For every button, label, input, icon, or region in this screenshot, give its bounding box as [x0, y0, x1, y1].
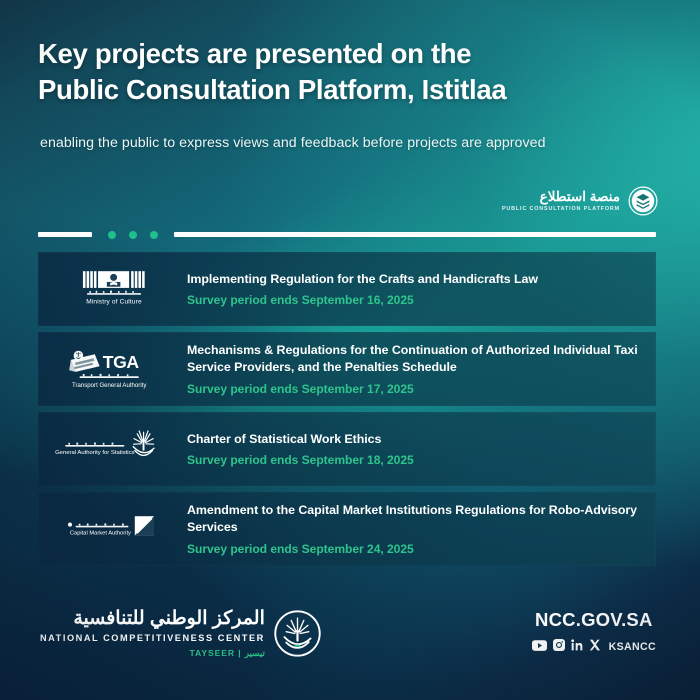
project-card[interactable]: Ministry of Culture Implementing Regulat…	[38, 252, 656, 326]
social-links: KSANCC	[532, 638, 656, 656]
divider-dot	[129, 231, 137, 239]
svg-text:Transport General Authority: Transport General Authority	[72, 382, 147, 389]
istitlaa-platform-logo: منصة استطلاع PUBLIC CONSULTATION PLATFOR…	[502, 186, 658, 216]
project-card[interactable]: Capital Market Authority Amendment to th…	[38, 492, 656, 566]
ncc-logo: المركز الوطني للتنافسية NATIONAL COMPETI…	[40, 609, 321, 658]
svg-text:Capital Market Authority: Capital Market Authority	[70, 531, 131, 537]
ncc-logo-text: المركز الوطني للتنافسية NATIONAL COMPETI…	[40, 609, 265, 658]
website-url[interactable]: NCC.GOV.SA	[532, 609, 656, 631]
divider-bar-left	[38, 232, 92, 237]
linkedin-icon[interactable]	[571, 638, 583, 656]
transport-general-authority-logo: TGA Transport General Authority	[44, 343, 184, 395]
project-details: Mechanisms & Regulations for the Continu…	[184, 342, 640, 395]
project-card[interactable]: TGA Transport General Authority Mec	[38, 332, 656, 406]
footer-links: NCC.GOV.SA	[532, 609, 656, 656]
project-survey-date: Survey period ends September 16, 2025	[187, 293, 640, 307]
divider-dot	[108, 231, 116, 239]
page-title: Key projects are presented on the Public…	[38, 36, 658, 109]
divider	[38, 231, 656, 238]
project-details: Amendment to the Capital Market Institut…	[184, 502, 640, 555]
ncc-name-arabic: المركز الوطني للتنافسية	[40, 609, 265, 628]
social-handle: KSANCC	[609, 641, 656, 653]
stacked-layers-circle-icon	[628, 186, 658, 216]
ncc-name-english: NATIONAL COMPETITIVENESS CENTER	[40, 634, 265, 643]
svg-text:TGA: TGA	[103, 351, 140, 371]
project-survey-date: Survey period ends September 24, 2025	[187, 542, 640, 556]
project-title: Charter of Statistical Work Ethics	[187, 431, 640, 448]
headline-line-2: Public Consultation Platform, Istitlaa	[38, 72, 658, 108]
youtube-icon[interactable]	[532, 638, 547, 656]
platform-name-english: PUBLIC CONSULTATION PLATFORM	[502, 207, 620, 212]
divider-bar-right	[174, 232, 656, 237]
project-survey-date: Survey period ends September 17, 2025	[187, 382, 640, 396]
project-list: Ministry of Culture Implementing Regulat…	[38, 252, 656, 566]
saudi-palm-swords-emblem	[274, 610, 321, 657]
infographic-canvas: Key projects are presented on the Public…	[0, 0, 700, 700]
project-details: Implementing Regulation for the Crafts a…	[184, 271, 640, 308]
project-survey-date: Survey period ends September 18, 2025	[187, 453, 640, 467]
platform-name-arabic: منصة استطلاع	[502, 190, 620, 204]
ncc-tayseer-label: TAYSEER | تيسير	[40, 649, 265, 658]
ministry-of-culture-logo: Ministry of Culture	[44, 263, 184, 315]
general-authority-for-statistics-logo: General Authority for Statistics	[44, 423, 184, 475]
platform-logo-text: منصة استطلاع PUBLIC CONSULTATION PLATFOR…	[502, 190, 620, 213]
project-title: Mechanisms & Regulations for the Continu…	[187, 342, 640, 375]
project-title: Implementing Regulation for the Crafts a…	[187, 271, 640, 288]
project-title: Amendment to the Capital Market Institut…	[187, 502, 640, 535]
headline-line-1: Key projects are presented on the	[38, 36, 658, 72]
instagram-icon[interactable]	[553, 638, 565, 656]
x-icon[interactable]	[589, 638, 601, 656]
divider-dot	[150, 231, 158, 239]
page-subtitle: enabling the public to express views and…	[40, 135, 670, 151]
svg-text:General Authority for Statisti: General Authority for Statistics	[55, 450, 134, 456]
capital-market-authority-logo: Capital Market Authority	[44, 503, 184, 555]
project-details: Charter of Statistical Work Ethics Surve…	[184, 431, 640, 468]
svg-text:Ministry of Culture: Ministry of Culture	[86, 298, 142, 305]
divider-dots	[108, 231, 158, 239]
project-card[interactable]: General Authority for Statistics	[38, 412, 656, 486]
